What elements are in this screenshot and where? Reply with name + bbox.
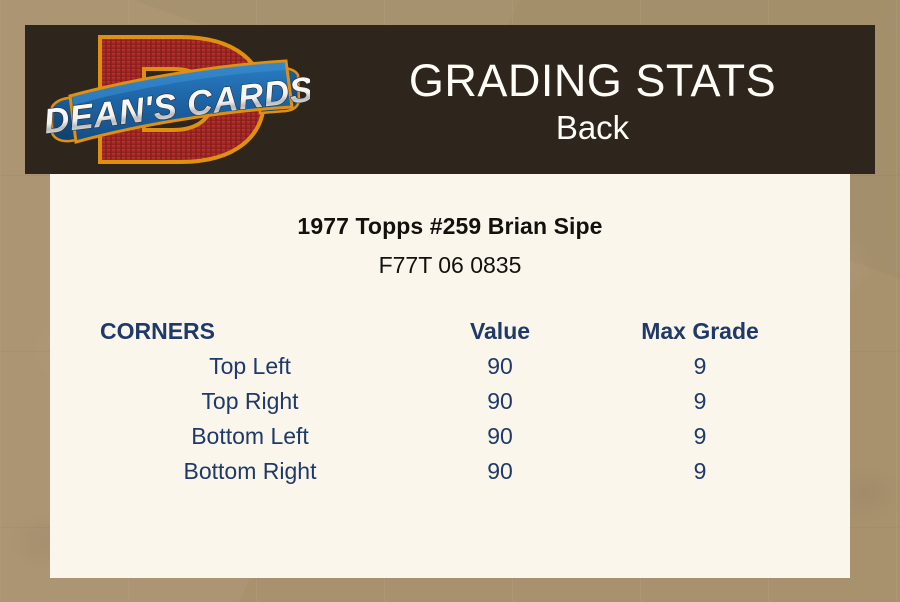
- row-label: Top Left: [100, 349, 400, 384]
- table-row: Bottom Left 90 9: [100, 419, 800, 454]
- row-value: 90: [400, 454, 600, 489]
- grading-stats-panel: 1977 Topps #259 Brian Sipe F77T 06 0835 …: [50, 174, 850, 578]
- row-value: 90: [400, 419, 600, 454]
- page-title: GRADING STATS: [409, 56, 776, 106]
- page-subtitle: Back: [556, 106, 629, 150]
- column-header-value: Value: [400, 314, 600, 349]
- card-serial-number: F77T 06 0835: [50, 252, 850, 279]
- table-header-row: CORNERS Value Max Grade: [100, 314, 800, 349]
- column-header-max-grade: Max Grade: [600, 314, 800, 349]
- column-header-section: CORNERS: [100, 314, 400, 349]
- corners-stats-table: CORNERS Value Max Grade Top Left 90 9 To…: [100, 314, 800, 489]
- logo-svg: DEAN'S CARDS: [40, 25, 310, 174]
- row-max-grade: 9: [600, 349, 800, 384]
- row-label: Bottom Right: [100, 454, 400, 489]
- stats-table-body: Top Left 90 9 Top Right 90 9 Bottom Left…: [100, 349, 800, 489]
- header-bar: DEAN'S CARDS GRADING STATS Back: [25, 25, 875, 174]
- card-title: 1977 Topps #259 Brian Sipe: [50, 213, 850, 240]
- row-max-grade: 9: [600, 419, 800, 454]
- table-row: Top Left 90 9: [100, 349, 800, 384]
- stats-table-head: CORNERS Value Max Grade: [100, 314, 800, 349]
- row-value: 90: [400, 384, 600, 419]
- table-row: Bottom Right 90 9: [100, 454, 800, 489]
- row-value: 90: [400, 349, 600, 384]
- row-max-grade: 9: [600, 454, 800, 489]
- row-max-grade: 9: [600, 384, 800, 419]
- row-label: Bottom Left: [100, 419, 400, 454]
- row-label: Top Right: [100, 384, 400, 419]
- header-title-group: GRADING STATS Back: [310, 25, 875, 174]
- table-row: Top Right 90 9: [100, 384, 800, 419]
- deans-cards-logo[interactable]: DEAN'S CARDS: [40, 25, 310, 174]
